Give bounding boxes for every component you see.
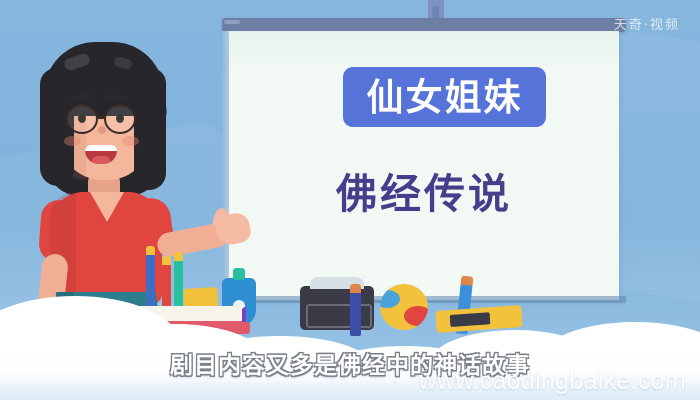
cheek-blush-left [64,136,81,146]
eye-left [78,114,86,123]
cheek-blush-right [122,136,139,146]
nose [98,126,106,134]
board-subtitle: 佛经传说 [229,172,619,217]
whiteboard-frame [222,18,626,32]
teeth [85,145,117,151]
pencil-tip-icon [174,252,183,261]
watermark-top-right: 天奇·视频 [614,14,680,33]
title-badge-label: 仙女姐妹 [367,79,523,116]
eye-right [116,114,124,123]
pencil-tip-icon [146,246,155,255]
watermark-bottom-right: www.caodingbaike.com [419,367,686,396]
tongue [92,156,110,164]
glasses-bridge [97,116,106,119]
hair-fringe [44,42,164,116]
shirt-collar [90,192,124,222]
title-badge: 仙女姐妹 [343,67,546,127]
pencil-tip-icon [162,256,171,265]
video-frame: 仙女姐妹 佛经传说 [0,0,700,400]
